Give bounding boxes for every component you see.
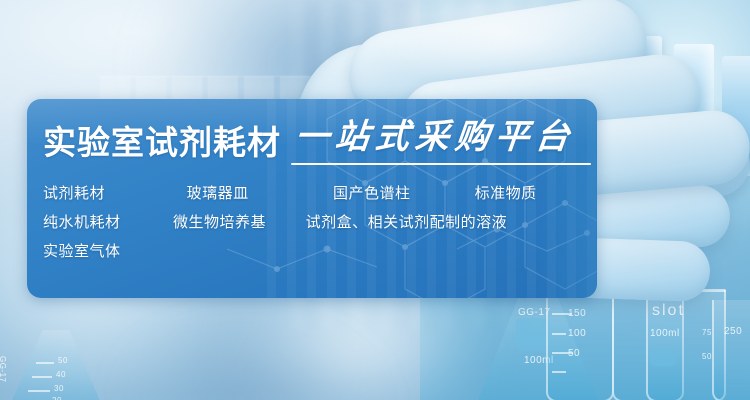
category-list: 试剂耗材 玻璃器皿 国产色谱柱 标准物质 纯水机耗材 微生物培养基 试剂盒、相关… [43,179,588,266]
panel-title: 实验室试剂耗材 一站式采购平台 [43,116,588,168]
flask-brand: GG-17 [0,356,7,383]
flask-mark: 30 [54,384,64,393]
flask-mark: 40 [56,370,66,379]
category-item-domestic-chromatography-column[interactable]: 国产色谱柱 [333,186,475,201]
title-underline [291,163,591,165]
beaker-mark: 50 [568,348,580,359]
category-item-laboratory-gases[interactable]: 实验室气体 [43,244,195,259]
beaker-mark: 50 [702,352,712,361]
category-row: 试剂耗材 玻璃器皿 国产色谱柱 标准物质 [43,179,588,208]
promo-panel: 实验室试剂耗材 一站式采购平台 试剂耗材 玻璃器皿 国产色谱柱 标准物质 纯水机… [27,99,597,298]
flask-mark: 20 [52,396,62,400]
category-row: 实验室气体 [43,237,588,266]
title-brush-wrap: 一站式采购平台 [295,121,575,163]
category-item-microbial-culture-media[interactable]: 微生物培养基 [173,215,306,230]
banner-root: 50 40 30 20 GG-17 GG-17 100ml 250 APPROX… [0,0,750,400]
category-item-reagent-consumables[interactable]: 试剂耗材 [43,186,187,201]
category-row: 纯水机耗材 微生物培养基 试剂盒、相关试剂配制的溶液 [43,208,588,237]
category-item-reference-materials[interactable]: 标准物质 [475,186,588,201]
category-item-reagent-kits-solutions[interactable]: 试剂盒、相关试剂配制的溶液 [306,215,588,230]
beaker-label-patch [650,350,676,366]
background-blur-blob [120,330,380,400]
category-item-water-purifier-consumables[interactable]: 纯水机耗材 [43,215,173,230]
category-item-glassware[interactable]: 玻璃器皿 [187,186,333,201]
title-brush-text: 一站式采购平台 [293,121,577,155]
title-main-text: 实验室试剂耗材 [43,126,281,159]
flask-mark: 50 [58,356,68,365]
